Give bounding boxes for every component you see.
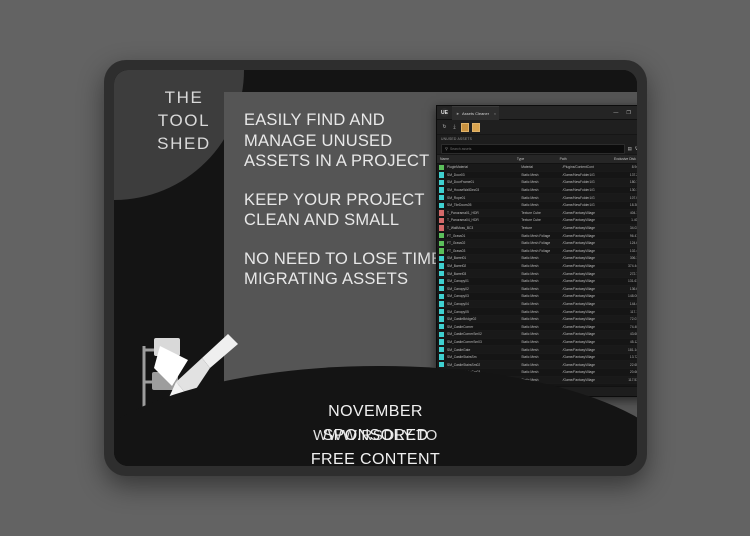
cell-type: Static Mesh <box>518 256 559 260</box>
cell-type: Static Mesh <box>518 173 559 177</box>
cell-name: FT_Grass01 <box>444 234 518 238</box>
cell-size: 148.003 KiB <box>610 294 637 298</box>
cell-name: SM_Canopy05 <box>444 310 518 314</box>
cell-size: 272.72 KiB <box>610 272 637 276</box>
cell-size: 306.12 KiB <box>610 256 637 260</box>
cell-path: /Game/FantasyVillage <box>560 340 611 344</box>
asset-table-body[interactable]: PluginMaterialMaterial/Plugins/ContentCo… <box>437 164 637 386</box>
cell-type: Static Mesh <box>518 203 559 207</box>
cell-path: /Game/FantasyVillage <box>560 234 611 238</box>
column-header-type[interactable]: Type <box>514 157 557 161</box>
table-row[interactable]: SM_Barrel03Static Mesh/Game/FantasyVilla… <box>437 270 637 278</box>
cell-size: 374.447 KiB <box>610 264 637 268</box>
table-row[interactable]: SM_CastleGateStatic Mesh/Game/FantasyVil… <box>437 346 637 354</box>
cell-name: SM_Canopy02 <box>444 287 518 291</box>
table-row[interactable]: SM_CastleStairsSm02Static Mesh/Game/Fant… <box>437 361 637 369</box>
cell-name: SM_Barrel02 <box>444 264 518 268</box>
exclude-assets-icon[interactable] <box>472 123 480 132</box>
cell-size: 8.943 KiB <box>610 165 637 169</box>
table-row[interactable]: T_Panorama04_HDRTexture Cube/Game/Fantas… <box>437 217 637 225</box>
cell-name: SM_Barrel01 <box>444 256 518 260</box>
cell-size: 107.04 KiB <box>610 196 637 200</box>
promo-headline-3: NO NEED TO LOSE TIME MIGRATING ASSETS <box>244 249 454 290</box>
cell-type: Static Mesh <box>518 332 559 336</box>
cell-path: /Game/FantasyVillage <box>560 226 611 230</box>
cell-size: 13.725 KiB <box>610 355 637 359</box>
table-row[interactable]: SM_CastleCornerSm02Static Mesh/Game/Fant… <box>437 331 637 339</box>
tablet-screen: THE TOOL SHED EASILY FIND AND MANAGE UNU… <box>114 70 637 466</box>
table-header[interactable]: Name Type Path Exclusive Disk Size ▾ <box>437 154 637 164</box>
table-row[interactable]: SM_CastleStairsSmStatic Mesh/Game/Fantas… <box>437 354 637 362</box>
cell-name: SM_HouseWallDec03 <box>444 188 518 192</box>
cell-path: /Game/FantasyVillage <box>560 317 611 321</box>
filter-icon[interactable]: ∇ <box>635 146 637 152</box>
cell-name: SM_CastleBridge02 <box>444 317 518 321</box>
maximize-button[interactable]: ❐ <box>626 110 630 116</box>
cell-name: T_WallMoss_BC3 <box>444 226 518 230</box>
poster-canvas: THE TOOL SHED EASILY FIND AND MANAGE UNU… <box>0 0 750 536</box>
cell-path: /Game/FantasyVillage <box>560 355 611 359</box>
cell-type: Texture <box>518 226 559 230</box>
table-row[interactable]: SM_Canopy04Static Mesh/Game/FantasyVilla… <box>437 301 637 309</box>
table-row[interactable]: FT_Grass02Static Mesh Foliage/Game/Fanta… <box>437 240 637 248</box>
cell-size: 180.77 KiB <box>610 180 637 184</box>
table-row[interactable]: FT_Grass03Static Mesh Foliage/Game/Fanta… <box>437 248 637 256</box>
tablet-device: THE TOOL SHED EASILY FIND AND MANAGE UNU… <box>104 60 647 476</box>
footer-line-1: NOVEMBER <box>114 400 637 424</box>
app-toolbar[interactable]: ↻ ⤓ ? <box>437 120 637 135</box>
table-row[interactable]: SM_CastleCornerStatic Mesh/Game/FantasyV… <box>437 323 637 331</box>
table-row[interactable]: SM_Canopy03Static Mesh/Game/FantasyVilla… <box>437 293 637 301</box>
folder-icon[interactable]: ▤ <box>628 146 632 152</box>
cell-type: Static Mesh <box>518 188 559 192</box>
cell-path: /Game/FantasyVillage <box>560 310 611 314</box>
cell-name: SM_CastleCornerSm02 <box>444 332 518 336</box>
cell-name: SM_CastleStairsSm02 <box>444 363 518 367</box>
cell-size: 144.49 KiB <box>610 302 637 306</box>
column-header-size[interactable]: Exclusive Disk Size ▾ <box>609 157 637 161</box>
cell-path: /Game/NewFolder1/G <box>560 188 611 192</box>
table-row[interactable]: SM_DoorFrame01Static Mesh/Game/NewFolder… <box>437 179 637 187</box>
window-controls[interactable]: — ❐ ✕ <box>613 110 637 116</box>
minimize-button[interactable]: — <box>613 110 618 116</box>
cell-size: 72.015 KiB <box>610 317 637 321</box>
cell-size: 45.125 KiB <box>610 340 637 344</box>
cell-path: /Game/FantasyVillage <box>560 378 611 382</box>
cell-name: SM_Rope01 <box>444 196 518 200</box>
cell-type: Static Mesh <box>518 294 559 298</box>
cell-path: /Game/FantasyVillage <box>560 348 611 352</box>
cell-type: Static Mesh <box>518 325 559 329</box>
cell-name: SM_CastleCornerSm03 <box>444 340 518 344</box>
refresh-icon[interactable]: ↻ <box>441 124 448 131</box>
cell-size: 96.473 KiB <box>610 234 637 238</box>
column-header-size-label: Exclusive Disk Size <box>614 157 637 161</box>
cell-type: Static Mesh <box>518 355 559 359</box>
window-title-bar[interactable]: UE ► Assets Cleaner × — ❐ ✕ <box>437 106 637 120</box>
site-watermark: WWW.RSDLY.TO <box>114 427 637 444</box>
cell-name: SM_DoorFrame01 <box>444 180 518 184</box>
table-row[interactable]: SM_Door03Static Mesh/Game/NewFolder1/G13… <box>437 172 637 180</box>
cell-size: 130.14 KiB <box>610 188 637 192</box>
table-row[interactable]: SM_Canopy05Static Mesh/Game/FantasyVilla… <box>437 308 637 316</box>
table-row[interactable]: FT_Grass01Static Mesh Foliage/Game/Fanta… <box>437 232 637 240</box>
section-label-unused-assets: UNUSED ASSETS <box>437 135 637 143</box>
play-icon: ► <box>456 111 460 116</box>
cell-size: 131.672 KiB <box>610 279 637 283</box>
cell-name: PluginMaterial <box>444 165 518 169</box>
cell-type: Static Mesh <box>518 279 559 283</box>
cell-name: SM_Door03 <box>444 173 518 177</box>
search-input[interactable]: ⚲ Search assets <box>441 144 625 154</box>
scan-icon[interactable]: ⤓ <box>451 124 458 131</box>
cell-type: Static Mesh <box>518 302 559 306</box>
table-row[interactable]: T_WallMoss_BC3Texture/Game/FantasyVillag… <box>437 225 637 233</box>
brand-logo-line-2: TOOL <box>136 109 232 132</box>
unreal-engine-logo-icon: UE <box>440 108 449 117</box>
cell-name: SM_CastleCorner <box>444 325 518 329</box>
cell-path: /Game/FantasyVillage <box>560 363 611 367</box>
cell-name: SM_Barrel03 <box>444 272 518 276</box>
cell-path: /Plugins/ContentCont <box>560 165 611 169</box>
tab-label: Assets Cleaner <box>462 111 489 116</box>
column-header-name[interactable]: Name <box>437 157 514 161</box>
cell-size: 43.603 KiB <box>610 332 637 336</box>
cell-size: 20.664 KiB <box>610 370 637 374</box>
cell-type: Static Mesh Foliage <box>518 249 559 253</box>
cell-path: /Game/FantasyVillage <box>560 370 611 374</box>
cell-path: /Game/FantasyVillage <box>560 325 611 329</box>
cell-size: 117.12 KiB <box>610 310 637 314</box>
cell-size: 136.63 KiB <box>610 287 637 291</box>
cell-path: /Game/FantasyVillage <box>560 279 611 283</box>
cell-path: /Game/FantasyVillage <box>560 332 611 336</box>
cell-path: /Game/NewFolder1/G <box>560 173 611 177</box>
table-row[interactable]: SM_Canopy02Static Mesh/Game/FantasyVilla… <box>437 286 637 294</box>
cell-type: Static Mesh <box>518 363 559 367</box>
table-row[interactable]: SM_HouseWallDec03Static Mesh/Game/NewFol… <box>437 187 637 195</box>
column-header-path[interactable]: Path <box>557 157 609 161</box>
cell-name: T_Panorama01_HDR <box>444 211 518 215</box>
cell-name: SM_Canopy01 <box>444 279 518 283</box>
cell-name: SM_Canopy04 <box>444 302 518 306</box>
search-placeholder: Search assets <box>450 147 472 151</box>
cell-size: 124.60 KiB <box>610 241 637 245</box>
cell-size: 137.20 KiB <box>610 173 637 177</box>
cell-size: 74.405 KiB <box>610 325 637 329</box>
delete-assets-icon[interactable] <box>461 123 469 132</box>
cell-name: SM_TileDoors05 <box>444 203 518 207</box>
cell-path: /Game/FantasyVillage <box>560 218 611 222</box>
cell-type: Static Mesh <box>518 340 559 344</box>
table-row[interactable]: SM_Barrel01Static Mesh/Game/FantasyVilla… <box>437 255 637 263</box>
brand-logo-line-3: SHED <box>136 132 232 155</box>
cell-size: 1.402 MiB <box>610 218 637 222</box>
cell-path: /Game/FantasyVillage <box>560 294 611 298</box>
cell-type: Static Mesh Foliage <box>518 241 559 245</box>
promo-headline-1: EASILY FIND AND MANAGE UNUSED ASSETS IN … <box>244 110 454 172</box>
cell-size: 34.036 KiB <box>610 226 637 230</box>
table-row[interactable]: PluginMaterialMaterial/Plugins/ContentCo… <box>437 164 637 172</box>
table-row[interactable]: SM_CastleCornerSm03Static Mesh/Game/Fant… <box>437 339 637 347</box>
cell-type: Texture Cube <box>518 218 559 222</box>
table-row[interactable]: T_Panorama01_HDRTexture Cube/Game/Fantas… <box>437 210 637 218</box>
cell-type: Static Mesh <box>518 196 559 200</box>
cell-path: /Game/FantasyVillage <box>560 302 611 306</box>
cell-size: 18.309 KiB <box>610 203 637 207</box>
tab-assets-cleaner[interactable]: ► Assets Cleaner × <box>452 106 499 120</box>
cell-type: Static Mesh <box>518 348 559 352</box>
cell-path: /Game/NewFolder1/G <box>560 180 611 184</box>
table-row[interactable]: SM_CastleBridge02Static Mesh/Game/Fantas… <box>437 316 637 324</box>
cell-path: /Game/FantasyVillage <box>560 264 611 268</box>
table-row[interactable]: SM_TileDoors05Static Mesh/Game/NewFolder… <box>437 202 637 210</box>
tab-close-icon[interactable]: × <box>494 111 496 116</box>
cell-size: 404.10 KiB <box>610 211 637 215</box>
cell-type: Static Mesh <box>518 370 559 374</box>
cell-name: SM_CastleStairsSm <box>444 355 518 359</box>
cell-name: T_Panorama04_HDR <box>444 218 518 222</box>
cell-type: Static Mesh Foliage <box>518 234 559 238</box>
cell-path: /Game/FantasyVillage <box>560 241 611 245</box>
table-row[interactable]: SM_Rope01Static Mesh/Game/NewFolder1/G10… <box>437 194 637 202</box>
cell-name: FT_Grass03 <box>444 249 518 253</box>
cell-type: Static Mesh <box>518 287 559 291</box>
cell-size: 102.41 KiB <box>610 249 637 253</box>
cell-path: /Game/FantasyVillage <box>560 256 611 260</box>
brand-logo-line-1: THE <box>136 86 232 109</box>
cell-name: SM_CastleGate <box>444 348 518 352</box>
cell-path: /Game/FantasyVillage <box>560 287 611 291</box>
cell-size: 181.147 KiB <box>610 348 637 352</box>
search-icon: ⚲ <box>445 146 448 151</box>
assets-cleaner-window[interactable]: UE ► Assets Cleaner × — ❐ ✕ ↻ ⤓ <box>436 105 637 397</box>
cell-path: /Game/FantasyVillage <box>560 249 611 253</box>
cell-type: Static Mesh <box>518 317 559 321</box>
cell-name: FT_Grass02 <box>444 241 518 245</box>
cell-path: /Game/NewFolder1/G <box>560 196 611 200</box>
cell-type: Static Mesh <box>518 264 559 268</box>
cell-size: 22.650 KiB <box>610 363 637 367</box>
cell-path: /Game/FantasyVillage <box>560 272 611 276</box>
table-row[interactable]: SM_Canopy01Static Mesh/Game/FantasyVilla… <box>437 278 637 286</box>
cell-path: /Game/FantasyVillage <box>560 211 611 215</box>
cell-size: 117.538 KiB <box>610 378 637 382</box>
brand-logo: THE TOOL SHED <box>136 86 232 155</box>
cell-type: Material <box>518 165 559 169</box>
promo-copy: EASILY FIND AND MANAGE UNUSED ASSETS IN … <box>244 110 454 290</box>
cell-type: Static Mesh <box>518 180 559 184</box>
cell-path: /Game/NewFolder1/G <box>560 203 611 207</box>
cell-type: Texture Cube <box>518 211 559 215</box>
promo-headline-2: KEEP YOUR PROJECT CLEAN AND SMALL <box>244 190 454 231</box>
cell-type: Static Mesh <box>518 272 559 276</box>
search-row[interactable]: ⚲ Search assets ▤ ∇ ⚙ <box>437 143 637 154</box>
cell-type: Static Mesh <box>518 310 559 314</box>
table-row[interactable]: SM_Barrel02Static Mesh/Game/FantasyVilla… <box>437 263 637 271</box>
footer-line-3: FREE CONTENT <box>114 448 637 466</box>
cell-name: SM_Canopy03 <box>444 294 518 298</box>
